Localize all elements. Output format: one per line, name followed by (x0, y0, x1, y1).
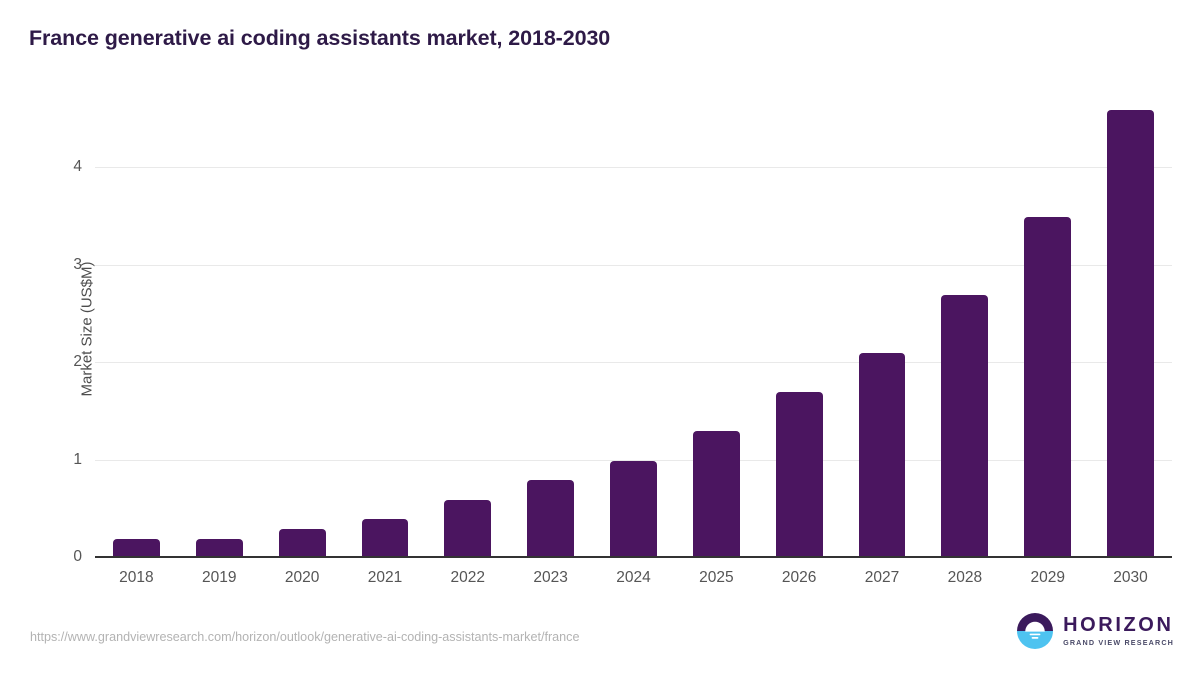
bar[interactable] (859, 353, 906, 558)
y-tick-label: 2 (73, 353, 82, 371)
logo-tagline: GRAND VIEW RESEARCH (1063, 639, 1174, 646)
bar-series: 2018201920202021202220232024202520262027… (95, 100, 1172, 558)
bar-group: 2027 (841, 100, 924, 558)
bar-group: 2028 (923, 100, 1006, 558)
x-tick-label: 2030 (1089, 569, 1172, 587)
y-tick-label: 3 (73, 256, 82, 274)
x-tick-label: 2028 (923, 569, 1006, 587)
bar-group: 2018 (95, 100, 178, 558)
bar[interactable] (1107, 110, 1154, 558)
bar-group: 2026 (758, 100, 841, 558)
x-tick-label: 2023 (509, 569, 592, 587)
x-tick-label: 2024 (592, 569, 675, 587)
bar[interactable] (279, 529, 326, 558)
x-tick-label: 2020 (261, 569, 344, 587)
horizon-sunrise-circle-icon (1016, 612, 1054, 650)
logo-text: HORIZON GRAND VIEW RESEARCH (1063, 615, 1174, 646)
x-tick-label: 2021 (344, 569, 427, 587)
bar[interactable] (610, 461, 657, 558)
bar[interactable] (444, 500, 491, 558)
bar-group: 2030 (1089, 100, 1172, 558)
bar[interactable] (362, 519, 409, 558)
chart-figure: Market Size (US$M) 01234 201820192020202… (0, 0, 1200, 675)
bar-group: 2024 (592, 100, 675, 558)
bar-group: 2019 (178, 100, 261, 558)
bar-group: 2029 (1006, 100, 1089, 558)
x-tick-label: 2025 (675, 569, 758, 587)
bar[interactable] (196, 539, 243, 558)
x-tick-label: 2019 (178, 569, 261, 587)
y-tick-label: 4 (73, 158, 82, 176)
bar[interactable] (776, 392, 823, 558)
x-axis-line (95, 556, 1172, 558)
logo-wordmark: HORIZON (1063, 615, 1174, 635)
x-tick-label: 2022 (426, 569, 509, 587)
x-tick-label: 2027 (841, 569, 924, 587)
chart-page: France generative ai coding assistants m… (0, 0, 1200, 675)
bar[interactable] (1024, 217, 1071, 558)
bar-group: 2020 (261, 100, 344, 558)
y-axis-title: Market Size (US$M) (79, 261, 96, 396)
brand-logo[interactable]: HORIZON GRAND VIEW RESEARCH (1016, 612, 1174, 650)
bar-group: 2023 (509, 100, 592, 558)
bar[interactable] (527, 480, 574, 558)
x-tick-label: 2026 (758, 569, 841, 587)
bar[interactable] (941, 295, 988, 558)
bar[interactable] (113, 539, 160, 558)
x-tick-label: 2018 (95, 569, 178, 587)
bar-group: 2021 (344, 100, 427, 558)
bar-group: 2022 (426, 100, 509, 558)
bar[interactable] (693, 431, 740, 558)
bar-group: 2025 (675, 100, 758, 558)
source-url[interactable]: https://www.grandviewresearch.com/horizo… (30, 630, 579, 644)
plot-area: Market Size (US$M) 01234 201820192020202… (95, 100, 1172, 558)
x-tick-label: 2029 (1006, 569, 1089, 587)
y-tick-label: 1 (73, 451, 82, 469)
y-tick-label: 0 (73, 548, 82, 566)
